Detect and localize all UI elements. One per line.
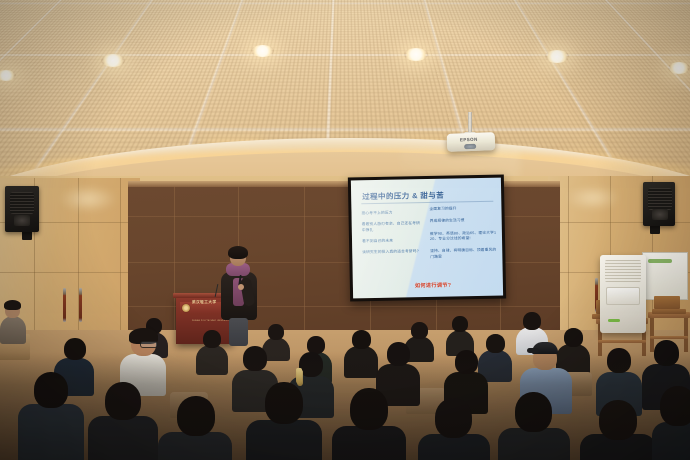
slide-bullet: 数学90、英语80、政治65、理论大学120、专业分过线的希望!: [430, 230, 498, 242]
projection-screen: 过程中的压力 & 甜与苦 担心考不上的压力 看着别人游刃有余、自己还在考研中挣扎…: [348, 175, 506, 302]
university-emblem-icon: [182, 304, 190, 312]
audience-member-foreground: [498, 392, 570, 460]
audience-member: [344, 330, 378, 372]
slide-bullet: 读研究生的投入真的适合考研吗?: [362, 249, 424, 256]
downlight-4: [545, 50, 569, 63]
slide-bullet: 看着别人游刃有余、自己还在考研中挣扎: [362, 221, 424, 233]
audience-member: [446, 316, 474, 350]
presenter-legs: [229, 318, 248, 346]
slide-bullet: 全面复习的提升: [429, 206, 497, 213]
audience-member-foreground: [158, 396, 232, 460]
audience-member-foreground: [246, 382, 322, 460]
wall-sheen-left: [58, 186, 118, 212]
audience-member-foreground: [18, 372, 84, 460]
slide-footer-question: 如何进行调节?: [415, 282, 452, 290]
lecture-hall-photo: EPSON: [0, 0, 690, 460]
audience-member-foreground: [652, 386, 690, 460]
audience-member: [196, 330, 228, 370]
projector: EPSON: [447, 132, 496, 152]
whiteboard: [642, 252, 688, 300]
audience-member-foreground: [88, 382, 158, 460]
downlight-5: [668, 62, 690, 74]
audience-member-glasses: [120, 330, 166, 388]
university-name-cn: 武汉轻工大学: [192, 300, 217, 304]
downlight-2: [251, 45, 274, 57]
ac-grille: [605, 260, 641, 282]
ac-control-panel[interactable]: [606, 287, 640, 305]
slide-bullet: 看不到自己的未来: [362, 238, 424, 245]
audience-member: [596, 348, 642, 408]
slide-bullet: 养成规律的生活习惯: [430, 218, 498, 225]
door-handle-left-2[interactable]: [79, 288, 82, 322]
wall-speaker-right: [643, 182, 675, 226]
slide-right-column: 全面复习的提升 养成规律的生活习惯 数学90、英语80、政治65、理论大学120…: [429, 206, 498, 267]
baseball-cap-icon: [532, 342, 558, 354]
projector-brand-label: EPSON: [460, 137, 478, 143]
audience-member-foreground: [418, 398, 490, 460]
wall-sheen-right: [566, 186, 620, 210]
slide-title: 过程中的压力 & 甜与苦: [362, 190, 444, 203]
wall-speaker-left: [5, 186, 39, 232]
floor-standing-ac: [600, 255, 646, 333]
downlight-3: [404, 48, 428, 61]
eyeglasses-icon: [140, 341, 158, 348]
projector-lens-icon: [464, 144, 476, 149]
door-handle-left-1[interactable]: [63, 288, 66, 322]
presenter-hair: [228, 246, 248, 259]
ac-status-led: [608, 319, 620, 322]
slide-bullet: 担心考不上的压力: [361, 210, 423, 217]
presenter-hand: [238, 284, 244, 290]
presentation-slide: 过程中的压力 & 甜与苦 担心考不上的压力 看着别人游刃有余、自己还在考研中挣扎…: [351, 178, 503, 299]
seated-staff-left: [0, 300, 26, 342]
whiteboard-marking: [648, 259, 672, 263]
slide-left-column: 担心考不上的压力 看着别人游刃有余、自己还在考研中挣扎 看不到自己的未来 读研究…: [361, 210, 424, 262]
downlight-1: [101, 54, 125, 67]
stacked-chairs-2: [652, 296, 690, 322]
audience-member-foreground: [332, 388, 406, 460]
audience-member-foreground: [580, 400, 656, 460]
slide-bullet: 坚持、自律、有明确目标、顶着重风的门路里: [430, 248, 498, 260]
